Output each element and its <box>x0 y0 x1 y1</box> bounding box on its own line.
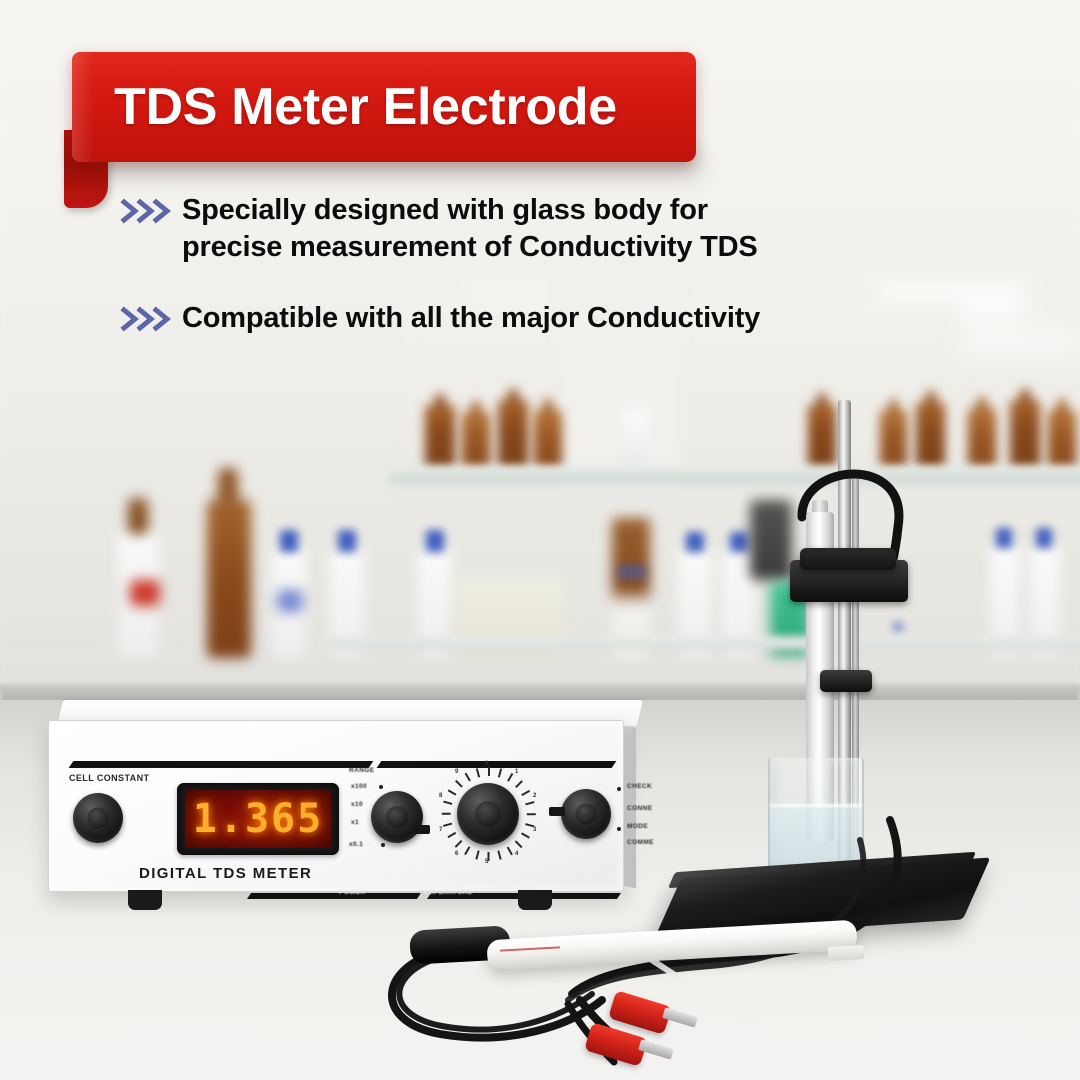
dial-number: 3 <box>533 827 536 833</box>
dial-number: 9 <box>455 769 458 775</box>
function-label-comme: COMME <box>627 839 654 846</box>
range-knob[interactable] <box>371 791 423 843</box>
probe-connector-tip <box>828 945 865 961</box>
function-indicator-dot <box>617 787 621 791</box>
function-indicator-dot <box>617 827 621 831</box>
stand-clamp-upper-jaw <box>800 548 896 570</box>
function-knob[interactable] <box>561 789 611 839</box>
decorative-stripe <box>247 893 421 899</box>
range-label-x01: x0.1 <box>349 841 363 848</box>
range-label-x100: x100 <box>351 783 367 790</box>
triple-chevron-right-icon <box>120 300 182 332</box>
display-value: 1.365 <box>193 796 323 842</box>
cell-constant-label: CELL CONSTANT <box>69 773 149 783</box>
calibration-dial[interactable] <box>457 783 519 845</box>
dial-number: 0 <box>485 761 488 767</box>
feature-line-2: precise measurement of Conductivity TDS <box>182 231 758 263</box>
bottom-label-temperature: TEMPERATURE <box>419 889 472 896</box>
feature-item: Compatible with all the major Conductivi… <box>120 300 1000 337</box>
function-label-mode: MODE <box>627 823 648 830</box>
dial-number: 5 <box>485 859 488 865</box>
range-label-x10: x10 <box>351 801 363 808</box>
dial-number: 8 <box>439 793 442 799</box>
range-label-x1: x1 <box>351 819 359 826</box>
feature-line-1: Compatible with all the major Conductivi… <box>182 302 760 334</box>
range-knob-pointer <box>414 825 430 834</box>
product-banner-image: CELL CONSTANT 1.365 DIGITAL TDS METER RA… <box>0 0 1080 1080</box>
cell-constant-knob[interactable] <box>73 793 123 843</box>
title-banner: TDS Meter Electrode <box>72 52 696 162</box>
bottom-label-power: POWER <box>339 889 366 896</box>
range-indicator-dot <box>379 785 383 789</box>
decorative-stripe <box>69 761 374 768</box>
meter-foot <box>518 890 552 910</box>
device-brand-label: DIGITAL TDS METER <box>139 865 312 882</box>
function-knob-pointer <box>549 807 565 816</box>
feature-text: Compatible with all the major Conductivi… <box>182 300 760 337</box>
range-indicator-dot <box>381 843 385 847</box>
function-label-conne: CONNE <box>627 805 652 812</box>
dial-number: 2 <box>533 793 536 799</box>
feature-item: Specially designed with glass body for p… <box>120 192 1000 266</box>
meter-front-panel: CELL CONSTANT 1.365 DIGITAL TDS METER RA… <box>48 720 624 892</box>
stand-clamp-lower <box>820 670 872 692</box>
function-label-check: CHECK <box>627 783 652 790</box>
feature-list: Specially designed with glass body for p… <box>120 192 1000 371</box>
triple-chevron-right-icon <box>120 192 182 224</box>
meter-foot <box>128 890 162 910</box>
dial-number: 1 <box>515 769 518 775</box>
feature-text: Specially designed with glass body for p… <box>182 192 758 266</box>
page-title: TDS Meter Electrode <box>72 77 617 137</box>
range-group-label: RANGE <box>349 767 374 774</box>
feature-line-1: Specially designed with glass body for <box>182 194 708 226</box>
dial-number: 4 <box>515 851 518 857</box>
digital-tds-meter-device: CELL CONSTANT 1.365 DIGITAL TDS METER RA… <box>48 700 648 912</box>
led-display: 1.365 <box>177 783 339 855</box>
dial-number: 7 <box>439 827 442 833</box>
dial-number: 6 <box>455 851 458 857</box>
